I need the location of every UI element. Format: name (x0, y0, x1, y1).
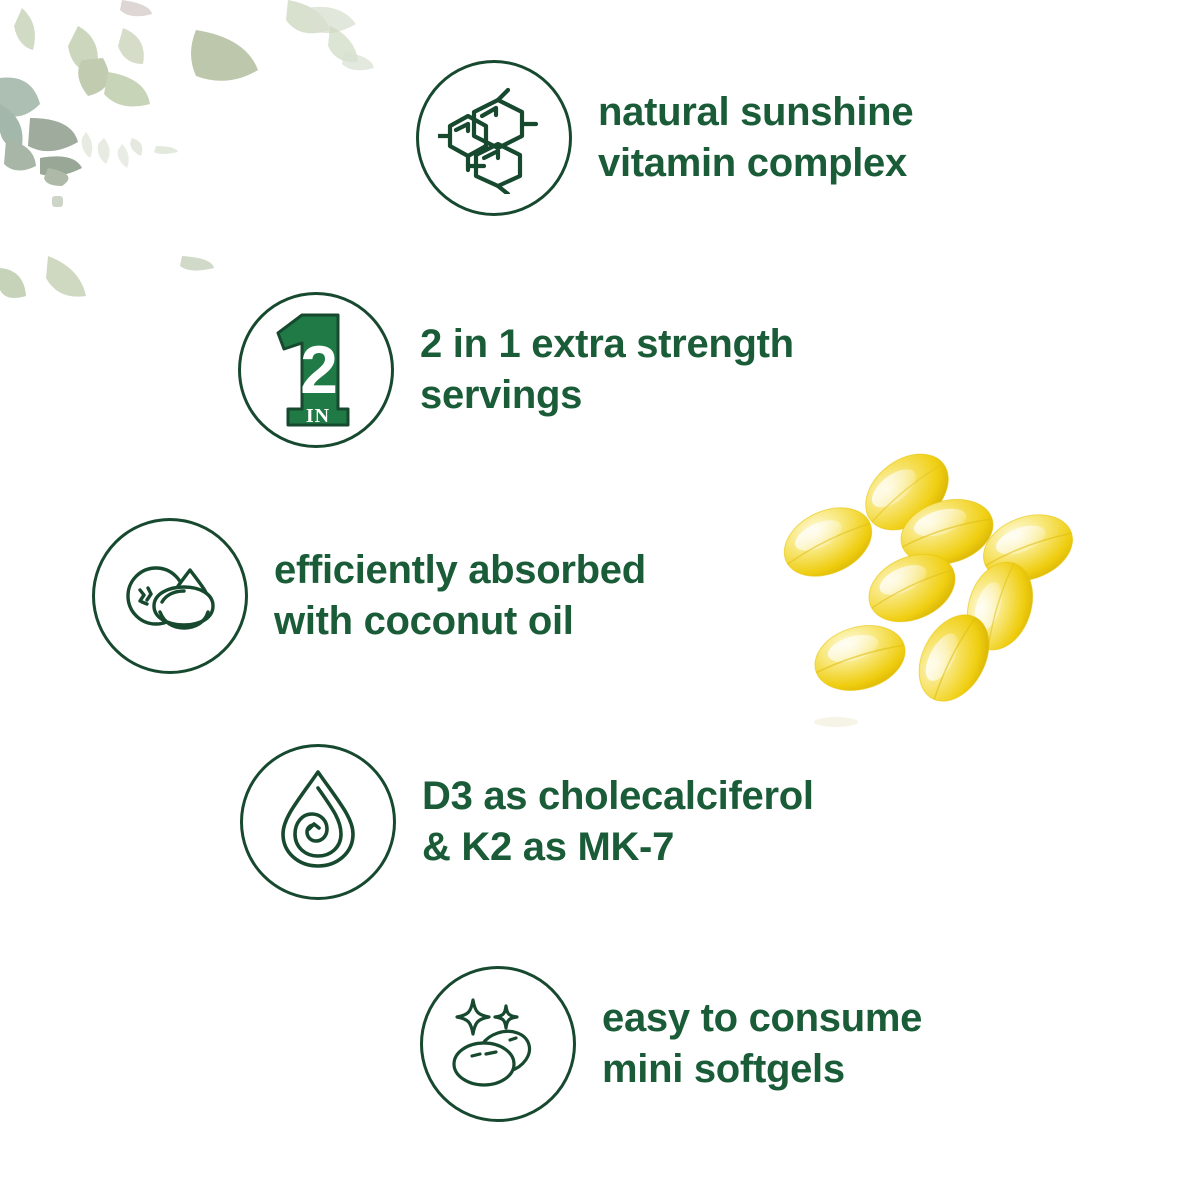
molecule-icon (438, 82, 550, 194)
benefit-row-natural-sunshine-vitamin-complex: natural sunshine vitamin complex (416, 60, 913, 216)
benefit-icon-circle (420, 966, 576, 1122)
sparkling-softgels-icon (442, 992, 554, 1096)
benefit-icon-circle (92, 518, 248, 674)
benefit-icon-circle (240, 744, 396, 900)
svg-text:IN: IN (306, 405, 330, 427)
benefit-label: efficiently absorbed with coconut oil (274, 545, 646, 647)
benefit-label: easy to consume mini softgels (602, 993, 922, 1095)
benefit-icon-circle (416, 60, 572, 216)
coconut-oil-icon (114, 540, 226, 652)
yellow-softgel-capsules-photo (780, 430, 1120, 750)
benefit-row-efficiently-absorbed-coconut-oil: efficiently absorbed with coconut oil (92, 518, 646, 674)
benefit-label: D3 as cholecalciferol & K2 as MK-7 (422, 771, 814, 873)
svg-text:2: 2 (300, 332, 338, 408)
benefit-icon-circle: 2 IN (238, 292, 394, 448)
benefit-row-d3-cholecalciferol-k2-mk7: D3 as cholecalciferol & K2 as MK-7 (240, 744, 814, 900)
two-in-one-icon: 2 IN (262, 309, 370, 431)
benefit-row-easy-to-consume-mini-softgels: easy to consume mini softgels (420, 966, 922, 1122)
benefit-label: 2 in 1 extra strength servings (420, 319, 794, 421)
benefit-row-two-in-one-extra-strength: 2 IN 2 in 1 extra strength servings (238, 292, 794, 448)
infographic-canvas: natural sunshine vitamin complex 2 IN 2 … (0, 0, 1200, 1200)
benefit-label: natural sunshine vitamin complex (598, 87, 913, 189)
droplet-swirl-icon (267, 766, 369, 878)
